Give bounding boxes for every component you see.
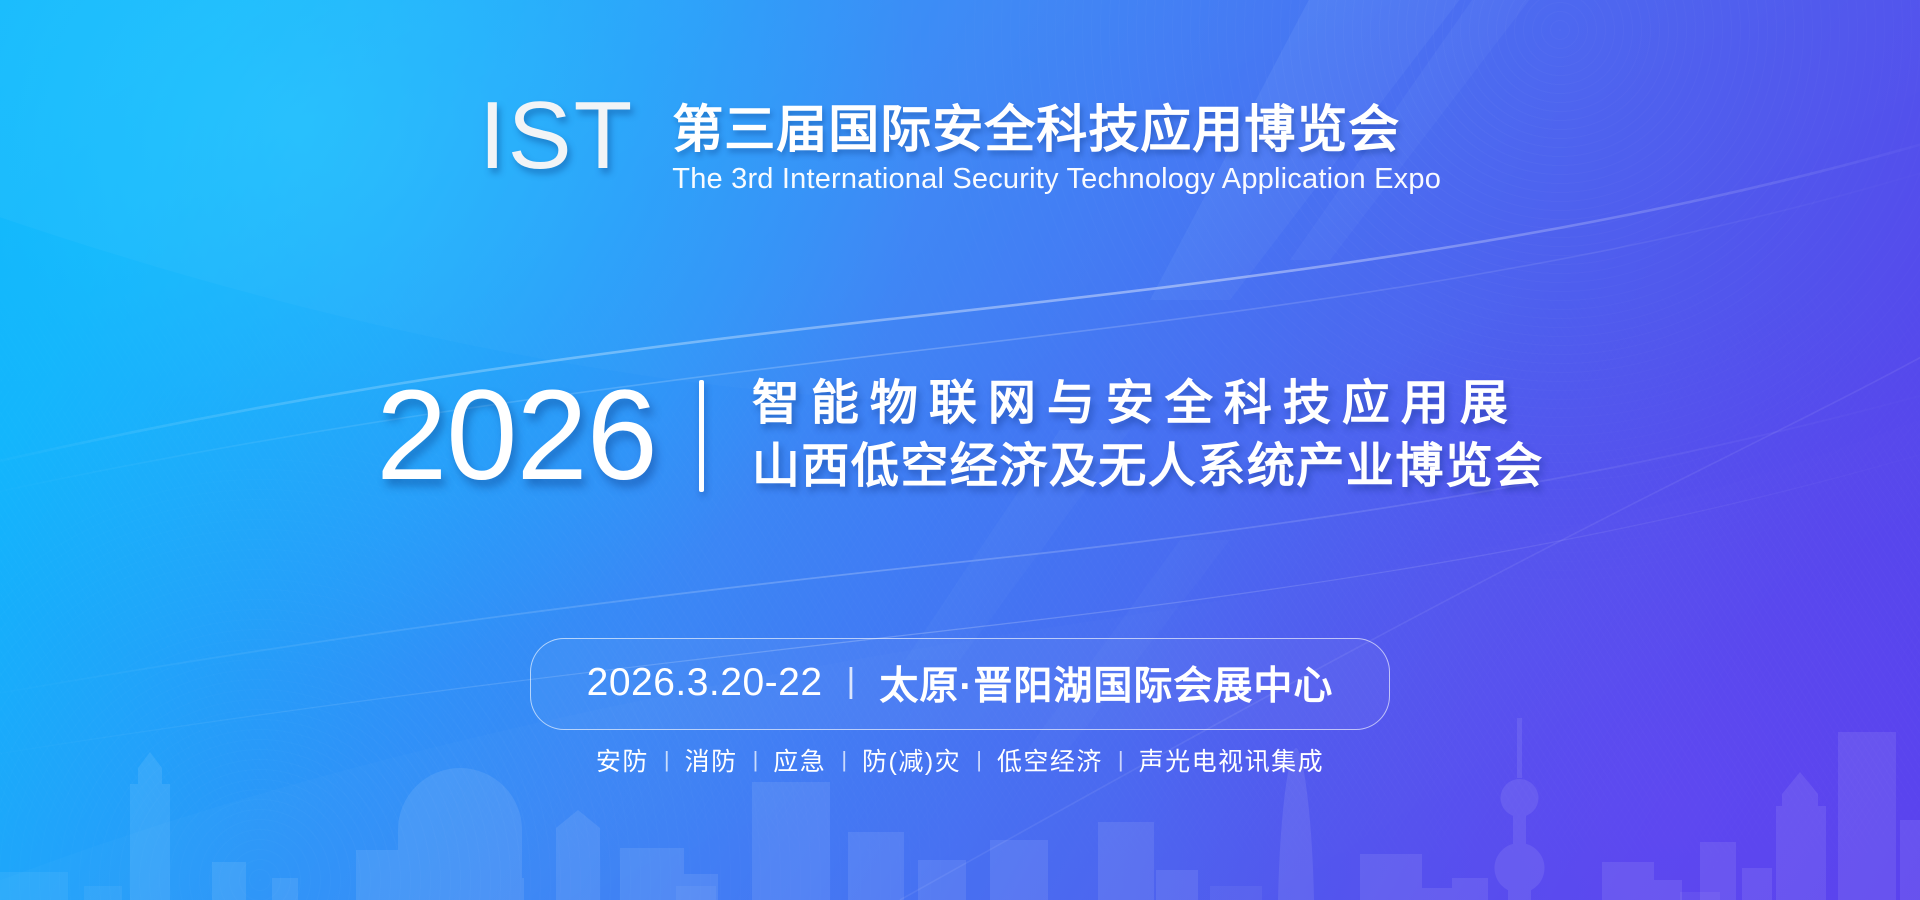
category-tag: 安防 [596,742,649,778]
tag-separator: | [976,747,982,773]
pill-separator: | [847,662,856,701]
event-venue: 太原·晋阳湖国际会展中心 [879,655,1333,711]
poster-content: IST 第三届国际安全科技应用博览会 The 3rd International… [0,0,1920,900]
title-divider [699,380,704,492]
event-date: 2026.3.20-22 [587,661,823,705]
header-title-english: The 3rd International Security Technolog… [672,163,1441,196]
category-tag: 声光电视讯集成 [1139,742,1325,778]
main-title-line-1: 智能物联网与安全科技应用展 [752,375,1544,434]
header-title-chinese: 第三届国际安全科技应用博览会 [672,102,1441,157]
poster-header: IST 第三届国际安全科技应用博览会 The 3rd International… [0,96,1920,196]
tag-separator: | [753,747,759,773]
category-tag: 应急 [773,742,826,778]
category-tags-list: 安防|消防|应急|防(减)灾|低空经济|声光电视讯集成 [596,742,1324,778]
category-tag: 低空经济 [997,742,1103,778]
category-tags-row: 安防|消防|应急|防(减)灾|低空经济|声光电视讯集成 [0,742,1920,778]
main-title-line-2: 山西低空经济及无人系统产业博览会 [752,438,1544,497]
tag-separator: | [841,747,847,773]
tag-separator: | [1118,747,1124,773]
expo-poster: IST 第三届国际安全科技应用博览会 The 3rd International… [0,0,1920,900]
event-year: 2026 [376,372,699,500]
date-venue-row: 2026.3.20-22 | 太原·晋阳湖国际会展中心 [0,638,1920,730]
poster-main-title-block: 2026 智能物联网与安全科技应用展 山西低空经济及无人系统产业博览会 [0,372,1920,500]
ist-logo: IST [479,92,634,180]
tag-separator: | [664,747,670,773]
category-tag: 消防 [685,742,738,778]
category-tag: 防(减)灾 [862,742,961,778]
date-venue-pill: 2026.3.20-22 | 太原·晋阳湖国际会展中心 [530,638,1391,730]
